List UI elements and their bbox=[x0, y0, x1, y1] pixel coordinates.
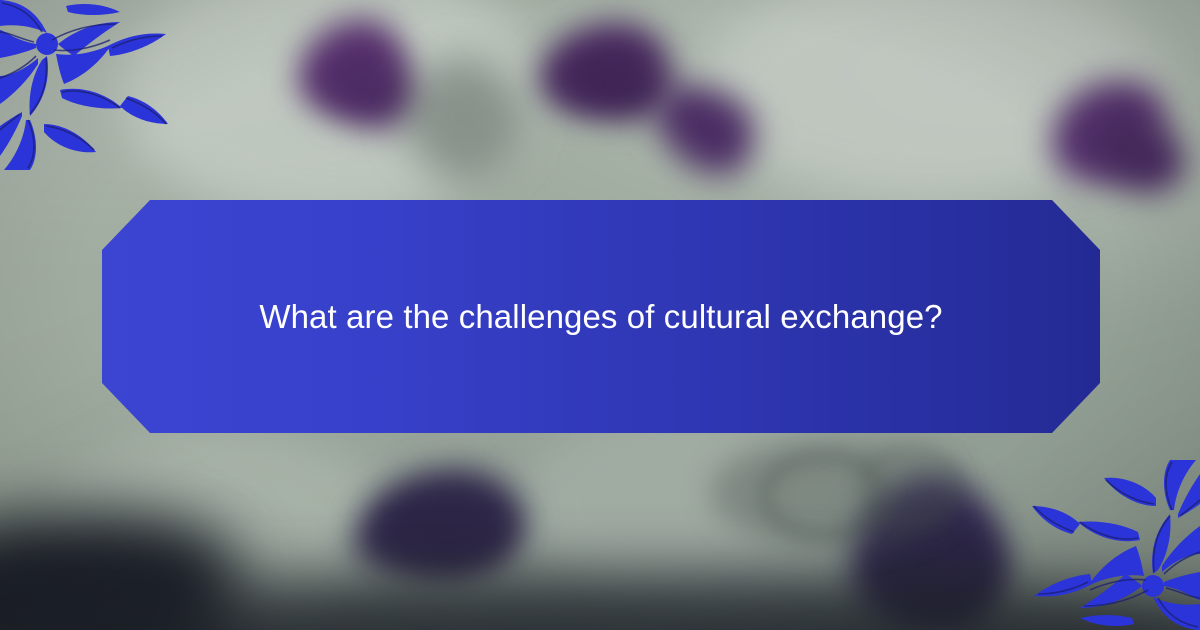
question-banner: What are the challenges of cultural exch… bbox=[102, 200, 1100, 433]
corner-ornament-top-left-icon bbox=[0, 0, 170, 170]
surface-pattern bbox=[860, 446, 962, 524]
corner-ornament-bottom-right-icon bbox=[1030, 460, 1200, 630]
question-text: What are the challenges of cultural exch… bbox=[259, 296, 942, 337]
share-card: What are the challenges of cultural exch… bbox=[0, 0, 1200, 630]
